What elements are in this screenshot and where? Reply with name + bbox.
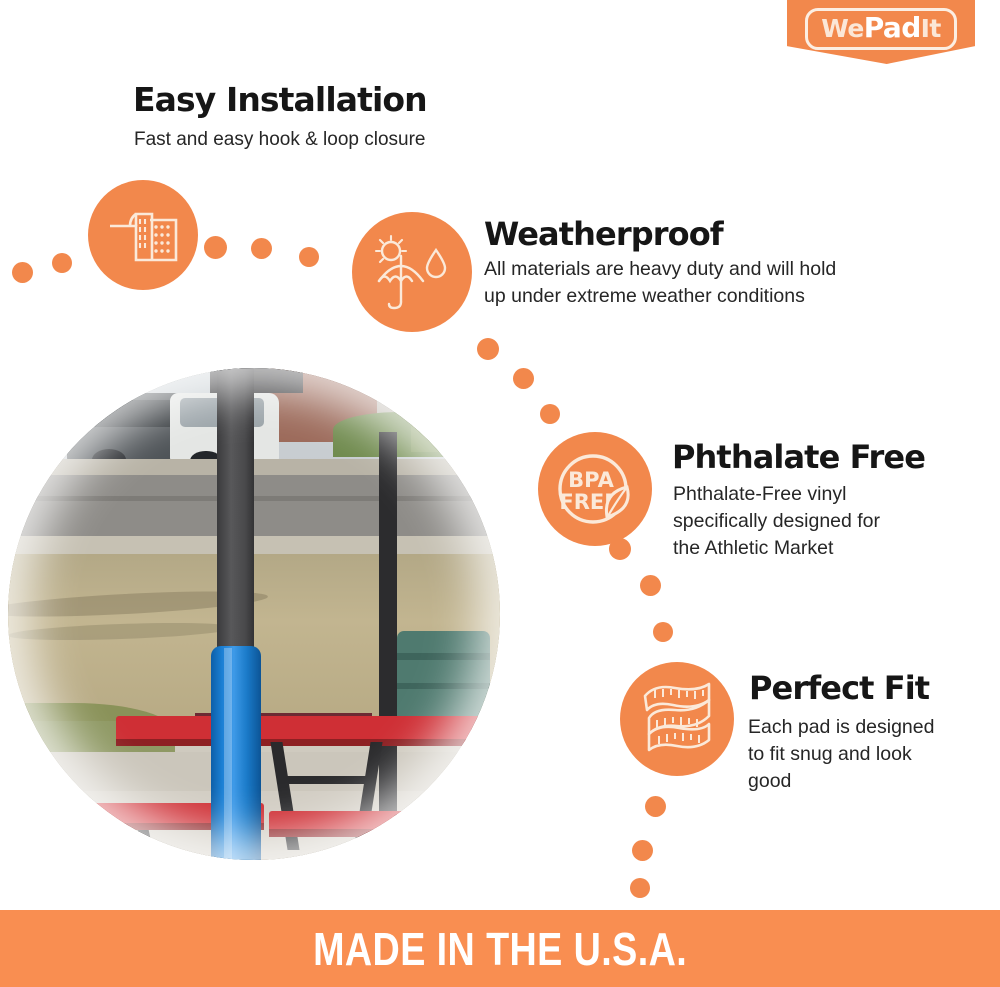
- measuring-tape-icon: [620, 662, 734, 776]
- path-dot: [12, 262, 33, 283]
- brand-logo-banner: WePadIt: [787, 0, 975, 64]
- feature-desc-weatherproof-line1: All materials are heavy duty and will ho…: [484, 257, 836, 283]
- path-dot: [251, 238, 272, 259]
- feature-desc-weatherproof-line2: up under extreme weather conditions: [484, 284, 805, 310]
- feature-desc-easy-installation: Fast and easy hook & loop closure: [134, 127, 426, 152]
- logo-text-it: It: [921, 14, 941, 43]
- path-dot: [609, 538, 631, 560]
- feature-desc-phthalate-line1: Phthalate-Free vinyl: [673, 482, 846, 508]
- path-dot: [632, 840, 653, 861]
- feature-desc-phthalate-line3: the Athletic Market: [673, 536, 833, 562]
- blue-post-pad: [211, 646, 261, 860]
- infographic-page: WePadIt Easy Installation Fast and easy …: [0, 0, 1000, 987]
- hook-and-loop-icon: [88, 180, 198, 290]
- bpa-free-leaf-icon: BPA FREE: [538, 432, 652, 546]
- path-dot: [645, 796, 666, 817]
- made-in-usa-text: MADE IN THE U.S.A.: [313, 922, 687, 976]
- path-dot: [513, 368, 534, 389]
- brand-logo-plate: WePadIt: [805, 8, 956, 50]
- feature-title-weatherproof: Weatherproof: [484, 215, 723, 253]
- path-dot: [540, 404, 560, 424]
- feature-desc-perfect-fit-line1: Each pad is designed: [748, 715, 934, 741]
- svg-text:BPA: BPA: [568, 468, 614, 492]
- feature-desc-perfect-fit-line3: good: [748, 769, 791, 795]
- umbrella-sun-rain-icon: [352, 212, 472, 332]
- path-dot: [653, 622, 673, 642]
- path-dot: [52, 253, 72, 273]
- logo-text-we: We: [821, 14, 863, 43]
- logo-text-pad: Pad: [864, 11, 921, 44]
- path-dot: [640, 575, 661, 596]
- made-in-usa-banner: MADE IN THE U.S.A.: [0, 910, 1000, 987]
- path-dot: [477, 338, 499, 360]
- product-photo: [8, 368, 500, 860]
- feature-desc-perfect-fit-line2: to fit snug and look: [748, 742, 912, 768]
- feature-title-perfect-fit: Perfect Fit: [749, 669, 929, 707]
- feature-desc-phthalate-line2: specifically designed for: [673, 509, 880, 535]
- feature-title-phthalate-free: Phthalate Free: [672, 438, 925, 476]
- path-dot: [299, 247, 319, 267]
- path-dot: [630, 878, 650, 898]
- path-dot: [204, 236, 227, 259]
- feature-title-easy-installation: Easy Installation: [133, 80, 427, 119]
